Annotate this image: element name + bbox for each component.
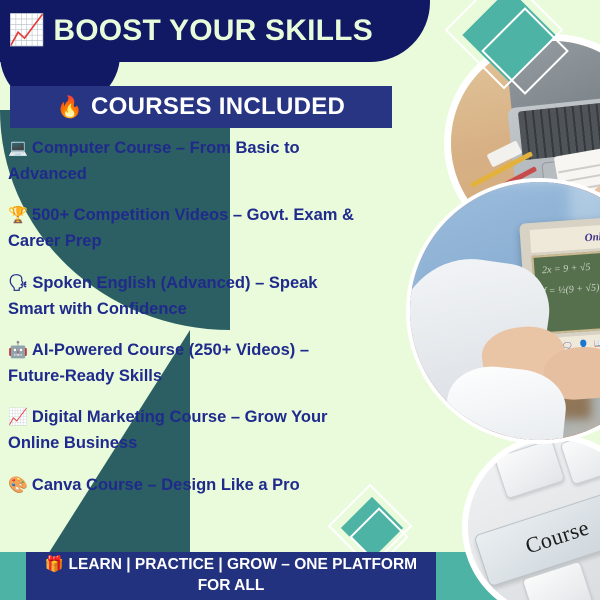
chart-increasing-icon: 📈 [8, 409, 28, 426]
list-item-label: AI-Powered Course (250+ Videos) – Future… [8, 341, 309, 385]
poster-canvas: Course Online 2x = 9 + √5 f = ½(9 + √5) … [0, 0, 600, 600]
footer-label: LEARN | PRACTICE | GROW – ONE PLATFORM F… [69, 556, 418, 594]
courses-included-banner: 🔥 COURSES INCLUDED [10, 86, 392, 128]
list-item-label: Canva Course – Design Like a Pro [32, 476, 300, 494]
list-item: 🏆500+ Competition Videos – Govt. Exam & … [6, 203, 362, 254]
courses-included-title: COURSES INCLUDED [91, 93, 345, 121]
list-item: 🤖AI-Powered Course (250+ Videos) – Futur… [6, 338, 362, 389]
page-title: BOOST YOUR SKILLS [53, 14, 373, 48]
list-item: 🗣Spoken English (Advanced) – Speak Smart… [6, 271, 362, 322]
online-class-photo: Online 2x = 9 + √5 f = ½(9 + √5) = 9/2 +… [406, 178, 600, 444]
course-list: 💻Computer Course – From Basic to Advance… [6, 136, 362, 515]
diamond-decoration-top [458, 0, 568, 96]
list-item-label: Spoken English (Advanced) – Speak Smart … [8, 274, 317, 318]
list-item: 🎨Canva Course – Design Like a Pro [6, 473, 362, 499]
header-bar: 📈 BOOST YOUR SKILLS [0, 0, 430, 62]
list-item: 📈Digital Marketing Course – Grow Your On… [6, 405, 362, 456]
screen-header: Online [529, 221, 600, 254]
list-item-label: Digital Marketing Course – Grow Your Onl… [8, 408, 327, 452]
artist-palette-icon: 🎨 [8, 477, 28, 494]
trophy-icon: 🏆 [8, 207, 28, 224]
robot-icon: 🤖 [8, 342, 28, 359]
fire-icon: 🔥 [57, 97, 83, 118]
footer-banner: 🎁 LEARN | PRACTICE | GROW – ONE PLATFORM… [26, 552, 436, 600]
keyboard-course-photo: Course [462, 434, 600, 600]
chart-increasing-icon: 📈 [8, 16, 45, 46]
list-item-label: Computer Course – From Basic to Advanced [8, 139, 300, 183]
list-item-label: 500+ Competition Videos – Govt. Exam & C… [8, 206, 354, 250]
list-item: 💻Computer Course – From Basic to Advance… [6, 136, 362, 187]
gift-icon: 🎁 [45, 556, 64, 573]
laptop-icon: 💻 [8, 140, 28, 157]
footer-text: 🎁 LEARN | PRACTICE | GROW – ONE PLATFORM… [26, 555, 436, 597]
online-label: Online [584, 230, 600, 244]
speaking-head-icon: 🗣 [8, 275, 28, 292]
course-key-label: Course [523, 514, 593, 559]
